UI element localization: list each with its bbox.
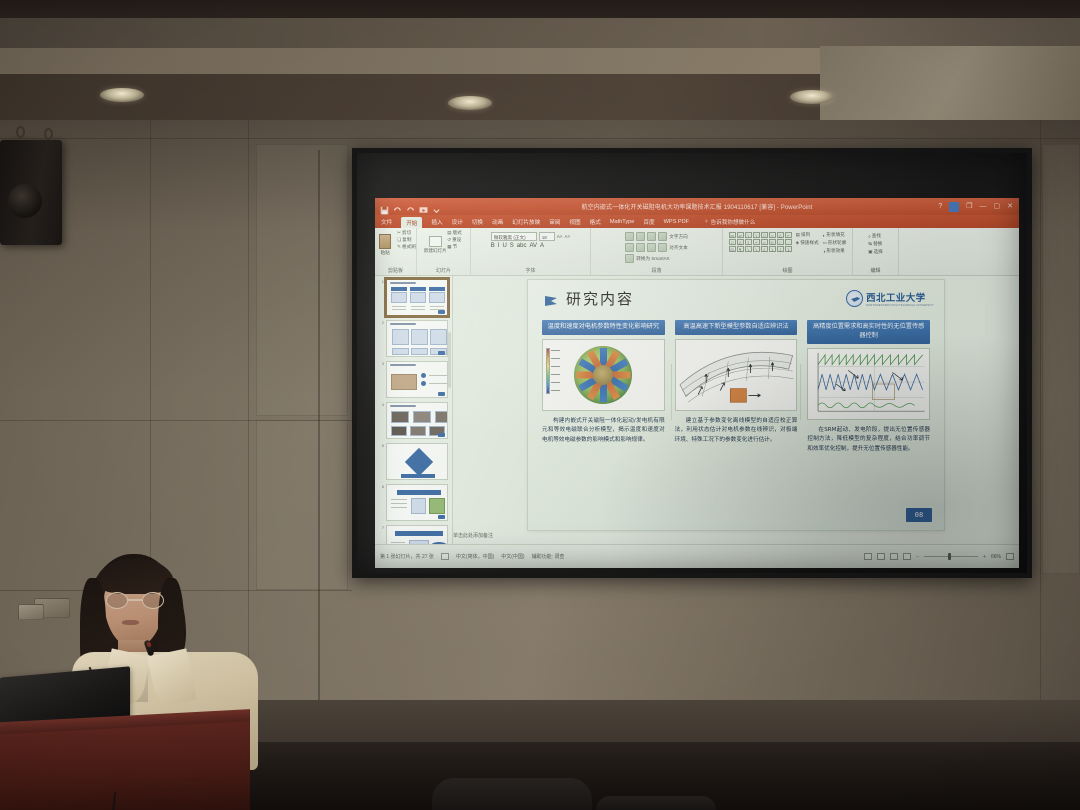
increase-font-icon[interactable]: A˄ xyxy=(557,234,563,239)
current-slide[interactable]: 研究内容 西北工业大学 NORTHWESTERN POLYTECHNICAL U… xyxy=(528,280,944,530)
thumbnail-scrollbar[interactable] xyxy=(448,332,451,388)
select-button[interactable]: ▣ 选择 xyxy=(868,249,883,255)
text-direction-button[interactable]: 文字方向 xyxy=(669,232,687,241)
column-divider xyxy=(800,364,801,420)
thumbnail-row[interactable]: 1 xyxy=(379,279,448,316)
conference-room: 航空内嵌式一体化开关磁阻电机大功率课题技术汇报 1904110617 [兼容] … xyxy=(0,0,1080,810)
ceiling-spotlight xyxy=(100,88,144,102)
notes-toggle-icon[interactable] xyxy=(441,553,449,560)
font-name-input[interactable]: 微软雅黑 (正文) xyxy=(491,232,537,241)
thumbnail-number: 1 xyxy=(379,279,384,284)
align-left-button[interactable] xyxy=(625,243,634,252)
layout-button[interactable]: ▤ 版式 xyxy=(447,230,462,236)
lens-right xyxy=(142,592,164,609)
view-sorter-icon[interactable] xyxy=(877,553,885,560)
fit-slide-icon[interactable] xyxy=(1006,553,1014,560)
tab-design[interactable]: 设计 xyxy=(452,218,463,226)
thumbnail-row[interactable]: 5 xyxy=(379,443,448,480)
align-right-button[interactable] xyxy=(647,243,656,252)
column-1: 温度和速度对电机参数特性变化影响研究 xyxy=(542,320,665,454)
tab-insert[interactable]: 插入 xyxy=(431,218,442,226)
window-controls[interactable]: ? ❐ — ▢ ✕ xyxy=(938,198,1017,215)
projection-screen: 航空内嵌式一体化开关磁阻电机大功率课题技术汇报 1904110617 [兼容] … xyxy=(352,148,1032,578)
window-title: 航空内嵌式一体化开关磁阻电机大功率课题技术汇报 1904110617 [兼容] … xyxy=(375,202,1019,211)
thumbnail-slide-6[interactable] xyxy=(386,484,448,521)
status-bar: 单击此处添加备注 第 1 张幻灯片，共 27 张 中文(简体，中国) 中文(中国… xyxy=(375,544,1019,568)
tell-me-label[interactable]: 告诉我你想做什么 xyxy=(711,218,756,226)
column-2-body: 建立基于参数变化离线模型的自适应校正算法，利用状态估计对电机参数在线辨识，对极端… xyxy=(675,417,798,446)
theme-label: 中文(简体，中国) xyxy=(456,553,494,560)
motor-stator xyxy=(574,346,632,404)
thumbnail-number: 4 xyxy=(379,402,384,407)
account-chip[interactable] xyxy=(949,202,959,212)
maximize-button[interactable]: ▢ xyxy=(994,203,1001,210)
ceiling-panel-right xyxy=(820,46,1080,130)
thumbnail-row[interactable]: 2 xyxy=(379,320,448,357)
thumbnail-row[interactable]: 3 xyxy=(379,361,448,398)
projected-desktop: 航空内嵌式一体化开关磁阻电机大功率课题技术汇报 1904110617 [兼容] … xyxy=(375,198,1019,568)
new-slide-label: 新建幻灯片 xyxy=(424,248,447,254)
tab-wps-pdf[interactable]: WPS PDF xyxy=(664,219,689,225)
thumbnail-number: 5 xyxy=(379,443,384,448)
character-spacing-button[interactable]: AV xyxy=(529,243,537,249)
section-button[interactable]: ▦ 节 xyxy=(447,244,462,250)
ribbon-display-icon[interactable]: ❐ xyxy=(966,203,972,210)
colorbar-ticks xyxy=(551,348,563,394)
group-label-editing: 编辑 xyxy=(870,267,880,274)
group-label-paragraph: 段落 xyxy=(651,267,661,274)
copy-button[interactable]: ❏ 复制 xyxy=(397,237,416,243)
wall-speaker xyxy=(0,140,62,245)
column-3-body: 在SRM起动、发电阶段，提出无位置传感器控制方法，降低模型的复杂程度，结合功率调… xyxy=(807,426,930,455)
sensorless-control-waveforms xyxy=(807,348,930,420)
bullets-button[interactable] xyxy=(625,232,634,241)
font-color-button[interactable]: A xyxy=(540,243,544,249)
tab-transitions[interactable]: 切换 xyxy=(472,218,483,226)
thumbnail-slide-3[interactable] xyxy=(386,361,448,398)
quick-styles-button[interactable]: ◈快速样式 xyxy=(796,240,819,246)
powerpoint-window[interactable]: 航空内嵌式一体化开关磁阻电机大功率课题技术汇报 1904110617 [兼容] … xyxy=(375,198,1019,568)
mouth xyxy=(122,620,139,625)
tab-slideshow[interactable]: 幻灯片放映 xyxy=(512,218,540,226)
slide-thumbnail-pane[interactable]: 1 xyxy=(375,276,453,544)
minimize-button[interactable]: — xyxy=(980,203,987,210)
tell-me-box[interactable]: ♀ 告诉我你想做什么 xyxy=(704,218,755,226)
thumbnail-row[interactable]: 6 xyxy=(379,484,448,521)
justify-button[interactable] xyxy=(658,243,667,252)
column-divider xyxy=(671,364,672,420)
chair-front xyxy=(432,778,592,810)
speaker-bracket xyxy=(44,128,53,140)
speaker-cone xyxy=(8,184,42,218)
thumbnail-slide-2[interactable] xyxy=(386,320,448,357)
thumbnail-number: 6 xyxy=(379,484,384,489)
thumbnail-number: 2 xyxy=(379,320,384,325)
ribbon-group-slides: 新建幻灯片 ▤ 版式 ↺ 重设 ▦ 节 幻灯片 xyxy=(417,228,471,275)
ribbon-group-paragraph: 文字方向 对齐文本 xyxy=(591,228,723,275)
zoom-slider[interactable] xyxy=(924,556,978,557)
accessibility-label[interactable]: 辅助功能: 调查 xyxy=(532,553,565,560)
thumbnail-row[interactable]: 7 xyxy=(379,525,448,544)
italic-button[interactable]: I xyxy=(498,243,500,249)
view-slideshow-icon[interactable] xyxy=(903,553,911,560)
smartart-button[interactable]: 转换为 SmartArt xyxy=(636,254,669,263)
increase-indent-button[interactable] xyxy=(658,232,667,241)
language-label[interactable]: 中文(中国) xyxy=(501,553,524,560)
thumbnail-slide-4[interactable] xyxy=(386,402,448,439)
slide-page-number: 08 xyxy=(906,508,932,522)
reset-button[interactable]: ↺ 重设 xyxy=(447,237,462,243)
slide-decoration-icon xyxy=(544,294,559,306)
wall-edge xyxy=(318,150,320,710)
find-button[interactable]: ⌕ 查找 xyxy=(868,233,881,239)
tab-review[interactable]: 审阅 xyxy=(549,218,560,226)
glasses xyxy=(106,592,164,609)
decrease-font-icon[interactable]: A˅ xyxy=(565,234,571,239)
zoom-out-icon[interactable]: − xyxy=(916,554,919,560)
thumbnail-slide-7[interactable] xyxy=(386,525,448,544)
tab-view[interactable]: 视图 xyxy=(569,218,580,226)
shape-fill-button[interactable]: ◐形状填充 xyxy=(823,232,847,238)
close-button[interactable]: ✕ xyxy=(1007,203,1013,210)
university-subtitle: NORTHWESTERN POLYTECHNICAL UNIVERSITY xyxy=(866,304,934,307)
colorbar xyxy=(546,348,550,394)
chair-front-right xyxy=(596,796,716,810)
strikethrough-button[interactable]: abc xyxy=(517,243,527,249)
thumbnail-row[interactable]: 4 xyxy=(379,402,448,439)
work-area: 1 xyxy=(375,276,1019,544)
ribbon-group-editing: ⌕ 查找 ↹ 替换 ▣ 选择 编辑 xyxy=(853,228,899,275)
speaker-bracket xyxy=(16,126,25,138)
tab-format[interactable]: 格式 xyxy=(590,218,601,226)
paste-button[interactable]: 粘贴 xyxy=(375,230,395,260)
zoom-level: 66% xyxy=(991,554,1001,560)
stator-sector-mesh-diagram xyxy=(675,339,798,411)
column-2: 高温高速下新型模型参数自适应辨识法 xyxy=(675,320,798,454)
tab-mathtype[interactable]: MathType xyxy=(610,219,635,225)
cut-button[interactable]: ✂ 剪切 xyxy=(397,230,416,236)
logo-emblem-icon xyxy=(846,290,863,307)
column-1-body: 构建内嵌式开关磁阻一体化起动/发电机有限元和等效电磁联合分析模型，揭示温度和速度… xyxy=(542,417,665,446)
ribbon[interactable]: 粘贴 ✂ 剪切 ❏ 复制 ✎ 格式刷 剪贴板 xyxy=(375,228,1019,276)
bold-button[interactable]: B xyxy=(491,243,495,249)
group-label-drawing: 绘图 xyxy=(782,267,792,274)
align-center-button[interactable] xyxy=(636,243,645,252)
view-reading-icon[interactable] xyxy=(890,553,898,560)
university-logo: 西北工业大学 NORTHWESTERN POLYTECHNICAL UNIVER… xyxy=(846,290,934,307)
arrange-button[interactable]: ▤排列 xyxy=(796,232,819,238)
decrease-indent-button[interactable] xyxy=(647,232,656,241)
align-text-button[interactable]: 对齐文本 xyxy=(669,243,687,252)
replace-button[interactable]: ↹ 替换 xyxy=(868,241,882,247)
ribbon-tabs[interactable]: 文件 开始 插入 设计 切换 动画 幻灯片放映 审阅 视图 格式 MathTyp… xyxy=(375,215,1019,228)
wall-socket[interactable] xyxy=(18,604,44,620)
content-columns: 温度和速度对电机参数特性变化影响研究 xyxy=(542,320,930,454)
shadow-button[interactable]: S xyxy=(510,243,514,249)
font-size-input[interactable]: 18 xyxy=(539,232,555,241)
group-label-slides: 幻灯片 xyxy=(436,267,451,274)
ceiling-spotlight xyxy=(448,96,492,110)
column-1-header: 温度和速度对电机参数特性变化影响研究 xyxy=(542,320,665,335)
motor-fea-thermal-model xyxy=(542,339,665,411)
shape-effects-button[interactable]: ◑形状效果 xyxy=(823,248,847,254)
slide-counter: 第 1 张幻灯片，共 27 张 xyxy=(380,553,434,560)
help-icon[interactable]: ? xyxy=(938,203,942,210)
motor-rotor xyxy=(593,365,613,385)
numbering-button[interactable] xyxy=(636,232,645,241)
group-label-clipboard: 剪贴板 xyxy=(388,267,403,274)
format-painter-button[interactable]: ✎ 格式刷 xyxy=(397,244,416,250)
slide-title: 研究内容 xyxy=(566,288,634,309)
screen-surface: 航空内嵌式一体化开关磁阻电机大功率课题技术汇报 1904110617 [兼容] … xyxy=(357,153,1027,573)
podium-front xyxy=(0,721,250,810)
shape-gallery[interactable]: ▭ ▱ \ \ □ ○ △ ⌐ □ △ xyxy=(729,232,792,252)
podium xyxy=(0,672,250,810)
tab-baidu[interactable]: 百度 xyxy=(643,218,654,226)
ribbon-group-clipboard: 粘贴 ✂ 剪切 ❏ 复制 ✎ 格式刷 剪贴板 xyxy=(375,228,417,275)
underline-button[interactable]: U xyxy=(502,243,506,249)
shape-outline-button[interactable]: ▭形状轮廓 xyxy=(823,240,847,246)
title-bar: 航空内嵌式一体化开关磁阻电机大功率课题技术汇报 1904110617 [兼容] … xyxy=(375,198,1019,215)
tab-animations[interactable]: 动画 xyxy=(492,218,503,226)
new-slide-button[interactable]: 新建幻灯片 xyxy=(425,230,445,260)
notes-placeholder[interactable]: 单击此处添加备注 xyxy=(453,532,493,539)
column-2-header: 高温高速下新型模型参数自适应辨识法 xyxy=(675,320,798,335)
university-name: 西北工业大学 xyxy=(866,290,934,304)
thumbnail-number: 7 xyxy=(379,525,384,530)
view-normal-icon[interactable] xyxy=(864,553,872,560)
zoom-in-icon[interactable]: + xyxy=(983,554,986,560)
glasses-bridge xyxy=(128,599,142,601)
columns-button[interactable] xyxy=(625,254,634,263)
ribbon-group-font: 微软雅黑 (正文) 18 A˄ A˅ B I U S xyxy=(471,228,591,275)
slide-canvas[interactable]: 研究内容 西北工业大学 NORTHWESTERN POLYTECHNICAL U… xyxy=(453,276,1019,544)
tab-file[interactable]: 文件 xyxy=(381,218,392,226)
thumbnail-number: 3 xyxy=(379,361,384,366)
column-3-header: 高精度位置需求和高实时性的无位置传感器控制 xyxy=(807,320,930,344)
lens-left xyxy=(106,592,128,609)
paste-label: 粘贴 xyxy=(381,250,390,256)
thumbnail-slide-1[interactable] xyxy=(386,279,448,316)
tab-home[interactable]: 开始 xyxy=(401,217,422,229)
lightbulb-icon: ♀ xyxy=(704,219,709,225)
column-3: 高精度位置需求和高实时性的无位置传感器控制 xyxy=(807,320,930,454)
ribbon-group-drawing: ▭ ▱ \ \ □ ○ △ ⌐ □ △ xyxy=(723,228,853,275)
thumbnail-slide-5[interactable] xyxy=(386,443,448,480)
group-label-font: 字体 xyxy=(525,267,535,274)
ceiling-spotlight xyxy=(790,90,834,104)
